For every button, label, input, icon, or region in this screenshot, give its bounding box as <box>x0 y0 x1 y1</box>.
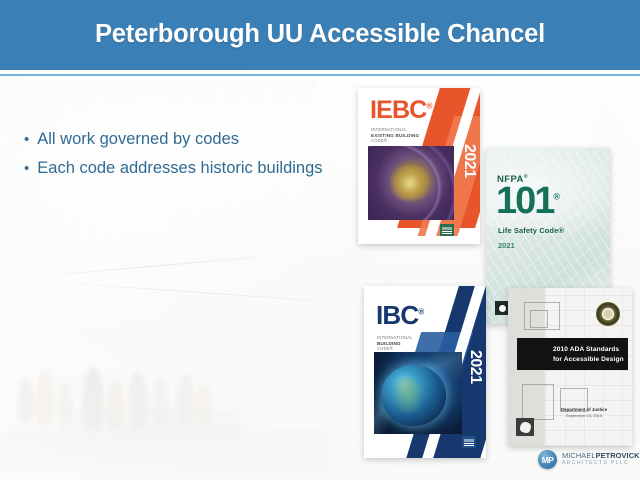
bullet-item: • Each code addresses historic buildings <box>24 156 354 181</box>
company-logo: MP MICHAELPETROVICK ARCHITECTS PLLC <box>538 450 640 469</box>
ada-title-line1: 2010 ADA Standards <box>553 346 619 353</box>
ibc-subtitle-line3: CODE® <box>377 346 435 352</box>
ada-publisher-block: Department of Justice September 15, 2010 <box>546 407 622 418</box>
iebc-page: IEBC® INTERNATIONAL EXISTING BUILDING CO… <box>358 88 480 244</box>
presentation-slide: Peterborough UU Accessible Chancel • All… <box>0 0 640 480</box>
iebc-subtitle: INTERNATIONAL EXISTING BUILDING CODE® <box>371 127 433 144</box>
ibc-page: IBC® INTERNATIONAL BUILDING CODE® 2021 <box>364 286 486 458</box>
company-logo-text: MICHAELPETROVICK ARCHITECTS PLLC <box>562 452 640 466</box>
ibc-cover-photo <box>374 352 462 434</box>
bullet-text: All work governed by codes <box>37 127 239 152</box>
ibc-trademark: ® <box>418 307 423 316</box>
iebc-brand-text: IEBC® <box>370 96 432 125</box>
ibc-subtitle: INTERNATIONAL BUILDING CODE® <box>377 335 435 352</box>
company-tagline: ARCHITECTS PLLC <box>562 461 640 466</box>
accessibility-icon <box>516 418 534 436</box>
icc-logo-icon <box>462 436 476 448</box>
ada-title-band: 2010 ADA Standards for Accessible Design <box>517 338 628 370</box>
doj-seal-icon <box>596 302 620 326</box>
book-cover-iebc: IEBC® INTERNATIONAL EXISTING BUILDING CO… <box>358 88 480 244</box>
header-accent-rule <box>0 74 640 76</box>
ibc-subtitle-line2: BUILDING <box>377 341 401 346</box>
bullet-marker-icon: • <box>24 156 29 181</box>
book-cover-ada-standards: 2010 ADA Standards for Accessible Design… <box>508 288 632 446</box>
ada-page: 2010 ADA Standards for Accessible Design… <box>508 288 632 446</box>
slide-title: Peterborough UU Accessible Chancel <box>95 20 545 49</box>
nfpa-year: 2021 <box>498 241 515 250</box>
nfpa-number-mark: ® <box>553 191 560 201</box>
iebc-subtitle-line2: EXISTING BUILDING <box>371 133 419 138</box>
iebc-subtitle-line3: CODE® <box>371 138 433 144</box>
company-name: MICHAELPETROVICK <box>562 452 640 460</box>
icc-logo-icon <box>440 224 454 236</box>
iebc-photo-glow <box>387 165 433 201</box>
ada-date: September 15, 2010 <box>546 413 622 418</box>
bullet-list: • All work governed by codes • Each code… <box>24 127 354 185</box>
book-cover-ibc: IBC® INTERNATIONAL BUILDING CODE® 2021 <box>364 286 486 458</box>
nfpa-subtitle: Life Safety Code® <box>498 226 564 235</box>
ada-title-line2: for Accessible Design <box>553 356 624 363</box>
ibc-photo-landmass <box>393 378 423 414</box>
iebc-trademark: ® <box>427 102 432 111</box>
mp-monogram-icon: MP <box>538 450 557 469</box>
nfpa-number: 101® <box>496 182 560 220</box>
ada-plan-box <box>530 310 548 328</box>
nfpa-badge-icon <box>495 301 509 315</box>
ada-publisher: Department of Justice <box>546 407 622 412</box>
bullet-marker-icon: • <box>24 127 29 152</box>
bullet-text: Each code addresses historic buildings <box>37 156 322 181</box>
ibc-year: 2021 <box>466 350 484 384</box>
ibc-brand-text: IBC® <box>376 300 424 331</box>
iebc-cover-photo <box>368 146 454 220</box>
iebc-year: 2021 <box>460 144 478 178</box>
bullet-item: • All work governed by codes <box>24 127 354 152</box>
